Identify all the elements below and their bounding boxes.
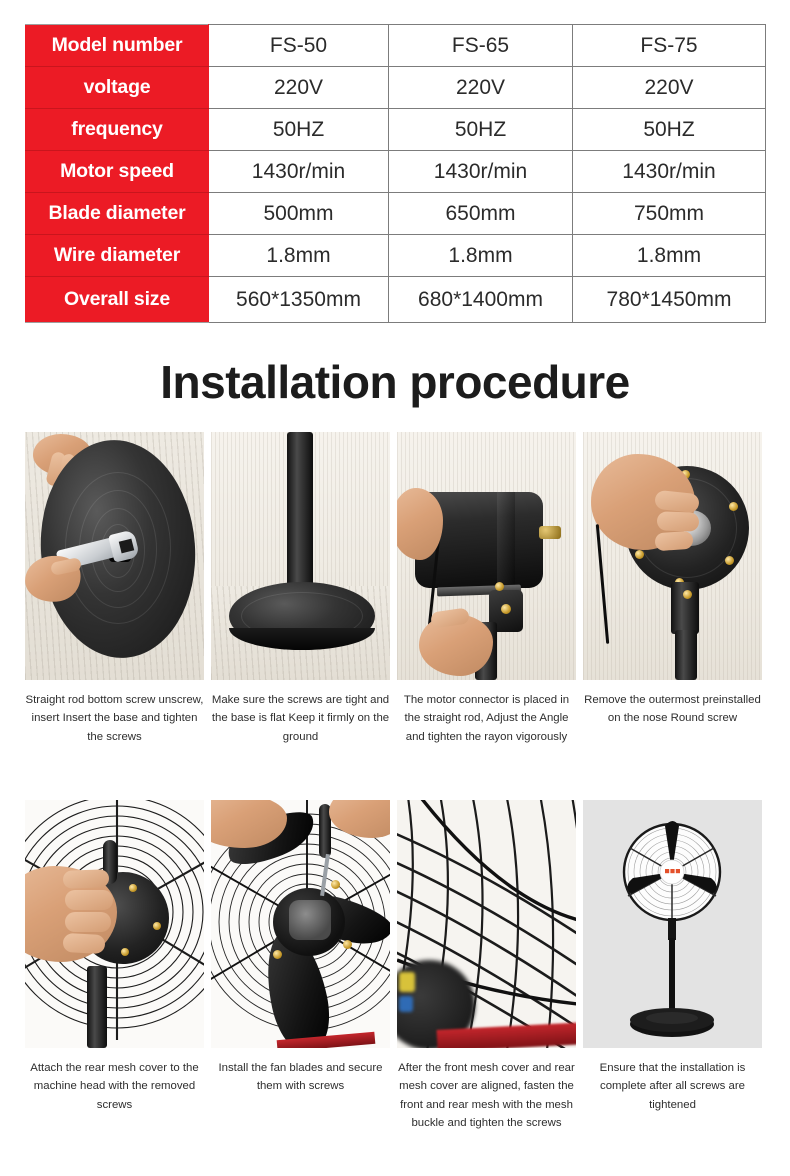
step-caption: Install the fan blades and secure them w…: [211, 1059, 390, 1096]
cell-blade-diameter-fs50: 500mm: [209, 193, 389, 235]
cell-wire-diameter-fs75: 1.8mm: [573, 235, 766, 277]
cell-model-number-fs75: FS-75: [573, 25, 766, 67]
row-label-frequency: frequency: [26, 109, 209, 151]
step-caption: The motor connector is placed in the str…: [397, 691, 576, 746]
row-label-motor-speed: Motor speed: [26, 151, 209, 193]
step-item: Attach the rear mesh cover to the machin…: [25, 800, 204, 1133]
cell-voltage-fs50: 220V: [209, 67, 389, 109]
cell-motor-speed-fs50: 1430r/min: [209, 151, 389, 193]
table-row: Model number FS-50 FS-65 FS-75: [26, 25, 766, 67]
step-item: Ensure that the installation is complete…: [583, 800, 762, 1133]
table-row: Blade diameter 500mm 650mm 750mm: [26, 193, 766, 235]
step-caption: Attach the rear mesh cover to the machin…: [25, 1059, 204, 1114]
photo-install-blades: [211, 800, 390, 1048]
installation-steps-row-2: Attach the rear mesh cover to the machin…: [25, 800, 765, 1133]
step-item: Make sure the screws are tight and the b…: [211, 432, 390, 746]
photo-finished-fan: [583, 800, 762, 1048]
table-row: voltage 220V 220V 220V: [26, 67, 766, 109]
row-label-model-number: Model number: [26, 25, 209, 67]
step-item: Remove the outermost preinstalled on the…: [583, 432, 762, 746]
cell-frequency-fs75: 50HZ: [573, 109, 766, 151]
table-row: Overall size 560*1350mm 680*1400mm 780*1…: [26, 277, 766, 323]
row-label-blade-diameter: Blade diameter: [26, 193, 209, 235]
step-caption: Ensure that the installation is complete…: [583, 1059, 762, 1114]
cell-model-number-fs65: FS-65: [389, 25, 573, 67]
photo-attach-rear-mesh: [25, 800, 204, 1048]
step-caption: Straight rod bottom screw unscrew, inser…: [25, 691, 204, 746]
product-spec-page: Model number FS-50 FS-65 FS-75 voltage 2…: [0, 0, 790, 1176]
cell-voltage-fs65: 220V: [389, 67, 573, 109]
cell-model-number-fs50: FS-50: [209, 25, 389, 67]
table-row: Wire diameter 1.8mm 1.8mm 1.8mm: [26, 235, 766, 277]
cell-overall-size-fs50: 560*1350mm: [209, 277, 389, 323]
photo-mesh-buckle: [397, 800, 576, 1048]
cell-frequency-fs65: 50HZ: [389, 109, 573, 151]
row-label-overall-size: Overall size: [26, 277, 209, 323]
cell-wire-diameter-fs65: 1.8mm: [389, 235, 573, 277]
cell-wire-diameter-fs50: 1.8mm: [209, 235, 389, 277]
specification-table: Model number FS-50 FS-65 FS-75 voltage 2…: [25, 24, 766, 323]
row-label-wire-diameter: Wire diameter: [26, 235, 209, 277]
page-title: Installation procedure: [0, 355, 790, 409]
photo-pole-on-base: [211, 432, 390, 680]
step-item: Install the fan blades and secure them w…: [211, 800, 390, 1133]
cell-voltage-fs75: 220V: [573, 67, 766, 109]
cell-motor-speed-fs75: 1430r/min: [573, 151, 766, 193]
step-item: Straight rod bottom screw unscrew, inser…: [25, 432, 204, 746]
cell-frequency-fs50: 50HZ: [209, 109, 389, 151]
cell-overall-size-fs75: 780*1450mm: [573, 277, 766, 323]
photo-motor-connector: [397, 432, 576, 680]
cell-blade-diameter-fs65: 650mm: [389, 193, 573, 235]
step-caption: Make sure the screws are tight and the b…: [211, 691, 390, 746]
row-label-voltage: voltage: [26, 67, 209, 109]
cell-blade-diameter-fs75: 750mm: [573, 193, 766, 235]
table-row: frequency 50HZ 50HZ 50HZ: [26, 109, 766, 151]
cell-motor-speed-fs65: 1430r/min: [389, 151, 573, 193]
photo-remove-round-screw: [583, 432, 762, 680]
installation-steps-row-1: Straight rod bottom screw unscrew, inser…: [25, 432, 765, 746]
table-row: Motor speed 1430r/min 1430r/min 1430r/mi…: [26, 151, 766, 193]
step-item: The motor connector is placed in the str…: [397, 432, 576, 746]
cell-overall-size-fs65: 680*1400mm: [389, 277, 573, 323]
step-item: After the front mesh cover and rear mesh…: [397, 800, 576, 1133]
step-caption: After the front mesh cover and rear mesh…: [397, 1059, 576, 1133]
photo-base-disc-wrench: [25, 432, 204, 680]
specification-table-container: Model number FS-50 FS-65 FS-75 voltage 2…: [25, 24, 765, 323]
step-caption: Remove the outermost preinstalled on the…: [583, 691, 762, 728]
pedestal-fan-icon: [583, 800, 762, 1048]
